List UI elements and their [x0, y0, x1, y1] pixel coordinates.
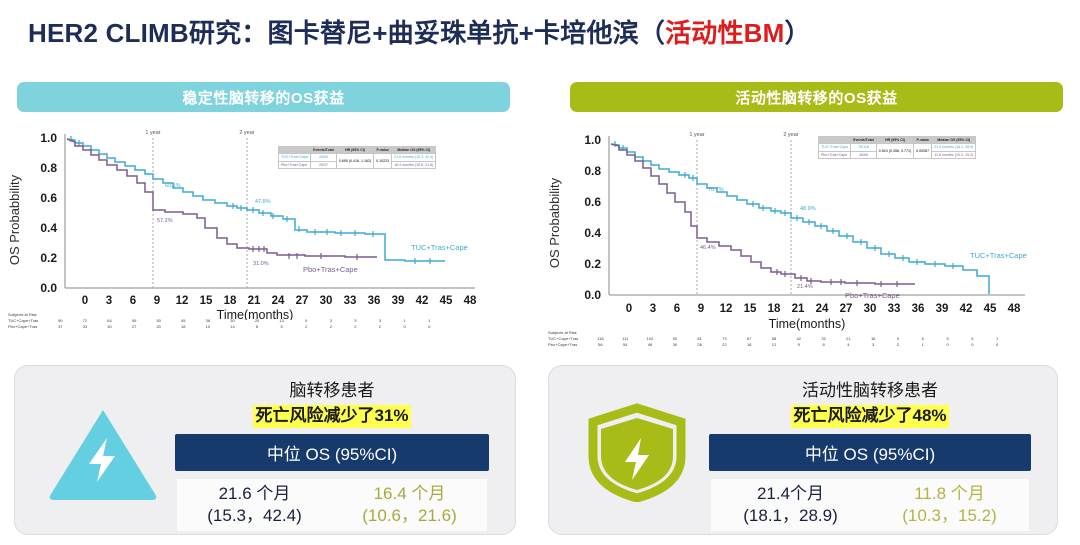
table-row: TUC+Tras+Cape 75/118 0.524 (0.356, 0.771… [819, 144, 976, 151]
annotation-70-7: 70.7% [708, 187, 724, 193]
svg-text:42: 42 [960, 303, 973, 315]
cell-hr: 0.524 (0.356, 0.771) [876, 144, 913, 159]
km-chart-stable-svg: OS Probabbility 1.0 0.8 0.6 0.4 0.2 0.0 … [5, 120, 525, 320]
summary-highlight-wrap-stable: 死亡风险减少了31% [165, 405, 499, 428]
summary-card-active: 活动性脑转移患者 死亡风险减少了48% 中位 OS (95%CI) 21.4个月… [548, 365, 1058, 535]
svg-text:12: 12 [720, 303, 733, 315]
risk-table-active: Subjects at Risk TUC+Cape+Tras 118111102… [548, 330, 1010, 347]
cell-median-pbo: 11.8 months (10.3, 15.2) [932, 151, 976, 158]
svg-text:1 year: 1 year [689, 132, 704, 138]
os-values-active: 21.4个月 (18.1，28.9) 11.8 个月 (10.3，15.2) [711, 479, 1029, 531]
summary-card-stable: 脑转移患者 死亡风险减少了31% 中位 OS (95%CI) 21.6 个月 (… [14, 365, 516, 535]
summary-highlight-active: 死亡风险减少了48% [791, 405, 948, 428]
svg-text:3: 3 [106, 295, 112, 307]
annotation-48-9: 48.9% [800, 206, 816, 212]
curve-label-pbo: Pbo+Tras+Cape [845, 291, 900, 300]
risk-caption: Subjects at Risk [8, 312, 442, 317]
svg-text:27: 27 [296, 295, 309, 307]
svg-text:39: 39 [392, 295, 405, 307]
risk-row-pbo: Pbo+Cape+Tras 5654463928221812984321000 [548, 342, 1010, 347]
section-header-active: 活动性脑转移的OS获益 [570, 82, 1063, 112]
page-title: HER2 CLIMB研究：图卡替尼+曲妥珠单抗+卡培他滨（活动性BM） [28, 8, 1070, 54]
svg-text:15: 15 [200, 295, 213, 307]
os-value-pbo-ci: (10.3，15.2) [870, 505, 1029, 527]
os-value-pbo-stable: 16.4 个月 (10.6，21.6) [332, 479, 487, 531]
cell-events-pbo: 40/56 [851, 151, 877, 158]
svg-text:OS Probabbility: OS Probabbility [7, 174, 22, 265]
curve-label-tuc: TUC+Tras+Cape [411, 243, 468, 252]
svg-text:39: 39 [936, 303, 949, 315]
km-chart-active-svg: OS Probabbility 1.0 0.8 0.6 0.4 0.2 0.0 … [545, 118, 1070, 333]
curve-label-pbo: Pbo+Tras+Cape [303, 265, 358, 274]
th-events: Events/Total [851, 137, 877, 144]
summary-body-active: 活动性脑转移患者 死亡风险减少了48% 中位 OS (95%CI) 21.4个月… [699, 380, 1041, 531]
svg-text:24: 24 [272, 295, 285, 307]
os-value-pbo-months: 16.4 个月 [332, 483, 487, 505]
svg-text:21: 21 [248, 295, 261, 307]
svg-text:6: 6 [674, 303, 680, 315]
risk-caption: Subjects at Risk [548, 330, 1010, 335]
svg-text:30: 30 [864, 303, 877, 315]
cell-pvalue: 0.00087 [914, 144, 932, 159]
os-value-tuc-ci: (18.1，28.9) [711, 505, 870, 527]
svg-text:30: 30 [320, 295, 333, 307]
svg-text:18: 18 [768, 303, 781, 315]
svg-text:21: 21 [792, 303, 805, 315]
svg-text:27: 27 [840, 303, 853, 315]
summary-highlight-stable: 死亡风险减少了31% [253, 405, 410, 428]
os-values-stable: 21.6 个月 (15.3，42.4) 16.4 个月 (10.6，21.6) [177, 479, 487, 531]
km-chart-active: OS Probabbility 1.0 0.8 0.6 0.4 0.2 0.0 … [545, 118, 1070, 358]
cell-median-tuc: 21.6 months (15.3, 42.4) [392, 154, 436, 161]
svg-text:0.4: 0.4 [584, 226, 601, 240]
os-value-pbo-active: 11.8 个月 (10.3，15.2) [870, 479, 1029, 531]
svg-text:6: 6 [130, 295, 136, 307]
cell-arm-pbo: Pbo+Tras+Cape [819, 151, 851, 158]
svg-text:0.0: 0.0 [584, 288, 601, 302]
title-accent-text: 活动性BM [665, 13, 784, 50]
table-header-row: Events/Total HR (95% CI) P-value Median … [279, 147, 436, 154]
svg-text:12: 12 [176, 295, 189, 307]
svg-text:48: 48 [464, 295, 477, 307]
cell-events-tuc: 43/90 [311, 154, 337, 161]
th-pvalue: P-value [374, 147, 392, 154]
svg-text:1 year: 1 year [145, 130, 160, 136]
section-header-stable: 稳定性脑转移的OS获益 [17, 82, 510, 112]
svg-text:0.4: 0.4 [40, 221, 57, 235]
svg-text:0.0: 0.0 [40, 281, 57, 295]
svg-text:36: 36 [912, 303, 925, 315]
svg-text:0: 0 [626, 303, 632, 315]
svg-text:18: 18 [224, 295, 237, 307]
th-median: Median OS (95% CI) [392, 147, 436, 154]
svg-text:0.2: 0.2 [40, 251, 57, 265]
svg-text:45: 45 [440, 295, 453, 307]
svg-text:0.8: 0.8 [40, 161, 57, 175]
risk-values-pbo: 373330272018101485222200 [48, 324, 442, 329]
cell-events-pbo: 25/37 [311, 161, 337, 168]
risk-row-label: Pbo+Cape+Tras [8, 324, 48, 329]
svg-text:2 year: 2 year [239, 130, 254, 136]
slide-root: HER2 CLIMB研究：图卡替尼+曲妥珠单抗+卡培他滨（活动性BM） 稳定性脑… [0, 0, 1080, 545]
cell-pvalue: 0.10223 [374, 154, 392, 169]
annotation-21-4: 21.4% [797, 284, 813, 290]
table-row: TUC+Tras+Cape 43/90 0.695 (0.416, 1.162)… [279, 154, 436, 161]
annotation-69-1: 69.1% [165, 183, 181, 189]
risk-row-pbo: Pbo+Cape+Tras 373330272018101485222200 [8, 324, 442, 329]
th-events: Events/Total [311, 147, 337, 154]
cell-events-tuc: 75/118 [851, 144, 877, 151]
os-value-tuc-months: 21.6 个月 [177, 483, 332, 505]
risk-table-stable: Subjects at Risk TUC+Cape+Tras 907264595… [8, 312, 442, 329]
cell-arm-tuc: TUC+Tras+Cape [819, 144, 851, 151]
os-value-tuc-months: 21.4个月 [711, 483, 870, 505]
annotation-46-4: 46.4% [700, 245, 716, 251]
triangle-bolt-icon [43, 402, 163, 502]
svg-text:1.0: 1.0 [584, 133, 601, 147]
os-value-tuc-stable: 21.6 个月 (15.3，42.4) [177, 479, 332, 531]
svg-text:45: 45 [984, 303, 997, 315]
svg-text:9: 9 [154, 295, 160, 307]
svg-text:1.0: 1.0 [40, 131, 57, 145]
risk-row-label: Pbo+Cape+Tras [548, 342, 588, 347]
risk-values-pbo: 5654463928221812984321000 [588, 342, 1010, 347]
stats-table-active: Events/Total HR (95% CI) P-value Median … [818, 136, 976, 159]
summary-highlight-wrap-active: 死亡风险减少了48% [699, 405, 1041, 428]
svg-text:33: 33 [344, 295, 357, 307]
th-hr: HR (95% CI) [336, 147, 373, 154]
shield-bolt-icon [577, 402, 697, 502]
stats-table-stable: Events/Total HR (95% CI) P-value Median … [278, 146, 436, 169]
svg-text:15: 15 [744, 303, 757, 315]
annotation-31-0: 31.0% [253, 261, 269, 267]
th-arm [279, 147, 311, 154]
cell-median-tuc: 21.4 months (18.1, 28.9) [932, 144, 976, 151]
svg-text:0.2: 0.2 [584, 257, 601, 271]
os-bar-active: 中位 OS (95%CI) [709, 434, 1031, 471]
svg-text:3: 3 [650, 303, 656, 315]
svg-text:OS Probabbility: OS Probabbility [547, 177, 562, 268]
os-bar-stable: 中位 OS (95%CI) [175, 434, 489, 471]
svg-text:9: 9 [698, 303, 704, 315]
svg-text:2 year: 2 year [783, 132, 798, 138]
os-value-pbo-ci: (10.6，21.6) [332, 505, 487, 527]
x-axis-label-active: Time(months) [769, 317, 846, 331]
th-arm [819, 137, 851, 144]
title-main-text: HER2 CLIMB研究：图卡替尼+曲妥珠单抗+卡培他滨（ [28, 13, 665, 50]
annotation-57-2: 57.2% [157, 218, 173, 224]
th-hr: HR (95% CI) [876, 137, 913, 144]
svg-text:36: 36 [368, 295, 381, 307]
cell-median-pbo: 16.4 months (10.6, 21.6) [392, 161, 436, 168]
svg-text:0: 0 [82, 295, 88, 307]
cell-arm-pbo: Pbo+Tras+Cape [279, 161, 311, 168]
curve-label-tuc: TUC+Tras+Cape [970, 251, 1027, 260]
summary-body-stable: 脑转移患者 死亡风险减少了31% 中位 OS (95%CI) 21.6 个月 (… [165, 380, 499, 531]
os-value-tuc-active: 21.4个月 (18.1，28.9) [711, 479, 870, 531]
summary-headline-active: 活动性脑转移患者 [699, 380, 1041, 403]
svg-text:0.6: 0.6 [40, 191, 57, 205]
os-value-pbo-months: 11.8 个月 [870, 483, 1029, 505]
svg-text:33: 33 [888, 303, 901, 315]
svg-text:48: 48 [1008, 303, 1021, 315]
th-median: Median OS (95% CI) [932, 137, 976, 144]
svg-text:42: 42 [416, 295, 429, 307]
cell-hr: 0.695 (0.416, 1.162) [336, 154, 373, 169]
th-pvalue: P-value [914, 137, 932, 144]
section-header-active-label: 活动性脑转移的OS获益 [735, 87, 897, 108]
summary-headline-stable: 脑转移患者 [165, 380, 499, 403]
table-header-row: Events/Total HR (95% CI) P-value Median … [819, 137, 976, 144]
svg-text:0.6: 0.6 [584, 195, 601, 209]
svg-text:0.8: 0.8 [584, 164, 601, 178]
cell-arm-tuc: TUC+Tras+Cape [279, 154, 311, 161]
title-tail-text: ） [785, 13, 811, 50]
svg-text:24: 24 [816, 303, 829, 315]
section-header-stable-label: 稳定性脑转移的OS获益 [182, 87, 344, 108]
os-value-tuc-ci: (15.3，42.4) [177, 505, 332, 527]
annotation-47-8: 47.8% [255, 199, 271, 205]
